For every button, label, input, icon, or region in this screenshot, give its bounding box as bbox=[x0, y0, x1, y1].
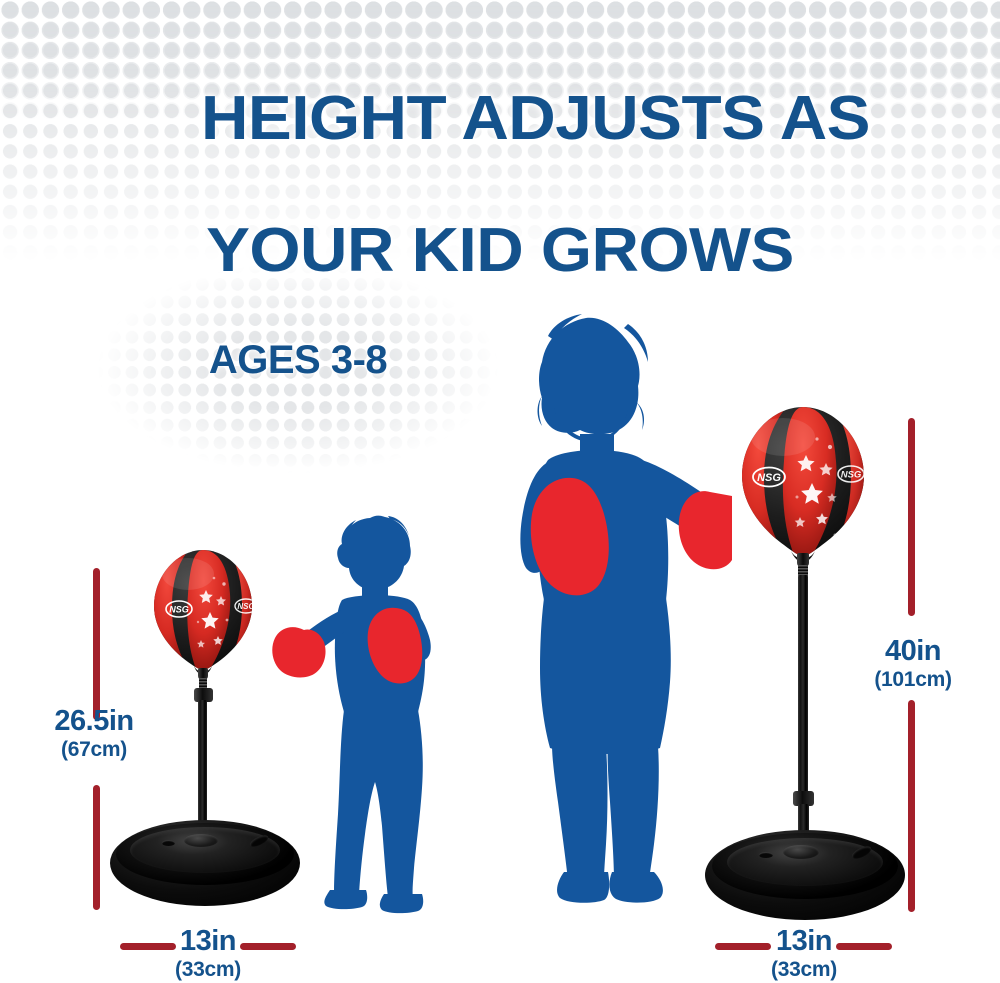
height-label-large: 40in (101cm) bbox=[838, 635, 988, 692]
punching-bag-large-graphic: NSG NSG bbox=[735, 405, 871, 563]
pole-large-upper bbox=[798, 575, 808, 797]
width-cm-large: (33cm) bbox=[746, 957, 862, 982]
base-small-fill-cap[interactable] bbox=[184, 834, 218, 847]
svg-text:NSG: NSG bbox=[757, 472, 781, 484]
older-child-boxing-silhouette bbox=[488, 310, 738, 910]
svg-text:NSG: NSG bbox=[169, 604, 189, 614]
young-child-glove-left bbox=[272, 627, 325, 677]
young-child-svg bbox=[270, 500, 460, 920]
punching-bag-small: NSG NSG bbox=[148, 548, 258, 676]
base-large bbox=[705, 830, 905, 920]
width-inches-large: 13in bbox=[746, 925, 862, 957]
infographic-canvas: HEIGHT ADJUSTS AS YOUR KID GROWS AGES 3-… bbox=[0, 0, 1000, 983]
older-child-svg bbox=[488, 310, 738, 910]
headline-line-2: YOUR KID GROWS bbox=[0, 218, 1000, 284]
svg-text:NSG: NSG bbox=[237, 602, 254, 611]
base-large-fill-cap[interactable] bbox=[783, 845, 819, 859]
width-cm-small: (33cm) bbox=[150, 957, 266, 982]
height-rule-small-lower bbox=[93, 785, 100, 910]
svg-text:NSG: NSG bbox=[841, 470, 862, 481]
ages-badge-label: AGES 3-8 bbox=[88, 338, 508, 383]
nsg-logo-small-right: NSG bbox=[235, 599, 257, 613]
punching-bag-large: NSG NSG bbox=[735, 405, 871, 563]
width-label-small: 13in (33cm) bbox=[150, 925, 266, 982]
height-inches-large: 40in bbox=[838, 635, 988, 667]
height-rule-large-lower bbox=[908, 700, 915, 912]
height-cm-large: (101cm) bbox=[838, 667, 988, 692]
height-rule-large-upper bbox=[908, 418, 915, 616]
base-small-drain-hole bbox=[162, 840, 175, 846]
height-rule-small-upper bbox=[93, 568, 100, 720]
headline-line-1: HEIGHT ADJUSTS AS bbox=[201, 84, 870, 153]
width-label-large: 13in (33cm) bbox=[746, 925, 862, 982]
base-large-drain-hole bbox=[759, 852, 773, 858]
punching-bag-small-graphic: NSG NSG bbox=[148, 548, 258, 676]
width-inches-small: 13in bbox=[150, 925, 266, 957]
young-child-boxing-silhouette bbox=[270, 500, 460, 920]
